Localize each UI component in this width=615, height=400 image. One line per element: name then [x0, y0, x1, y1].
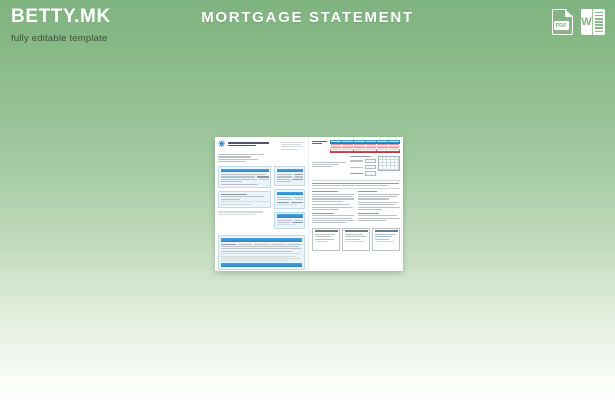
page1-address-block	[218, 154, 264, 162]
info-box	[372, 228, 400, 251]
page2-coupon-area	[312, 156, 400, 178]
coupon-value-box	[365, 165, 376, 170]
payment-coupon	[350, 156, 400, 178]
page2-text-columns	[312, 191, 400, 226]
page2-column-right	[358, 191, 401, 226]
account-summary-panel	[218, 166, 271, 188]
paragraph-block	[312, 204, 355, 210]
amount-due-box	[274, 166, 305, 186]
filetype-icons: PDF W	[552, 9, 605, 35]
page1-masthead: ✳	[218, 141, 305, 151]
page2-address-block	[312, 156, 346, 178]
pdf-file-icon[interactable]: PDF	[552, 9, 573, 35]
page-title: MORTGAGE STATEMENT	[0, 9, 615, 26]
paragraph-block	[358, 191, 401, 199]
paragraph-block	[358, 213, 401, 221]
statement-page-2	[308, 137, 403, 271]
past-payments-panel	[218, 235, 305, 269]
brand-tagline: fully editable template	[11, 33, 231, 44]
document-preview[interactable]: ✳	[215, 137, 403, 271]
paragraph-block	[358, 202, 401, 210]
loan-summary-table	[330, 140, 400, 153]
bank-logo-icon: ✳	[218, 141, 226, 148]
page2-notice-bar	[312, 180, 400, 188]
account-summary-title-bar	[221, 169, 269, 172]
word-letter-label: W	[581, 9, 593, 35]
bank-wordmark	[228, 141, 279, 148]
page2-info-boxes	[312, 228, 400, 251]
transaction-title-bar	[277, 214, 303, 217]
coupon-value-box	[365, 171, 376, 176]
word-file-icon[interactable]: W	[581, 9, 605, 35]
page2-column-left	[312, 191, 355, 226]
past-payments-title-bar	[221, 238, 302, 241]
paragraph-block	[312, 191, 355, 202]
escrow-title-bar	[277, 192, 303, 195]
template-preview-page: BETTY.MK fully editable template MORTGAG…	[0, 0, 615, 400]
page1-masthead-meta	[281, 141, 305, 151]
statement-page-1: ✳	[215, 137, 308, 271]
escrow-box	[274, 189, 305, 209]
pdf-label: PDF	[554, 21, 569, 30]
amount-due-title-bar	[277, 169, 303, 172]
info-box	[342, 228, 370, 251]
transaction-activity-box	[274, 212, 305, 229]
coupon-value-box	[365, 159, 376, 164]
loan-table-alert-row	[330, 150, 400, 153]
page1-columns	[218, 166, 305, 232]
page2-header	[312, 140, 400, 153]
page2-logo	[312, 140, 328, 146]
page1-footer-bar	[221, 263, 302, 266]
coupon-fields	[350, 156, 376, 178]
page1-right-column	[274, 166, 305, 232]
payment-details-panel	[218, 191, 271, 208]
page1-left-column	[218, 166, 271, 232]
info-box	[312, 228, 340, 251]
coupon-amount-grid	[378, 156, 400, 171]
word-lines-icon	[593, 9, 605, 35]
paragraph-block	[312, 213, 355, 224]
